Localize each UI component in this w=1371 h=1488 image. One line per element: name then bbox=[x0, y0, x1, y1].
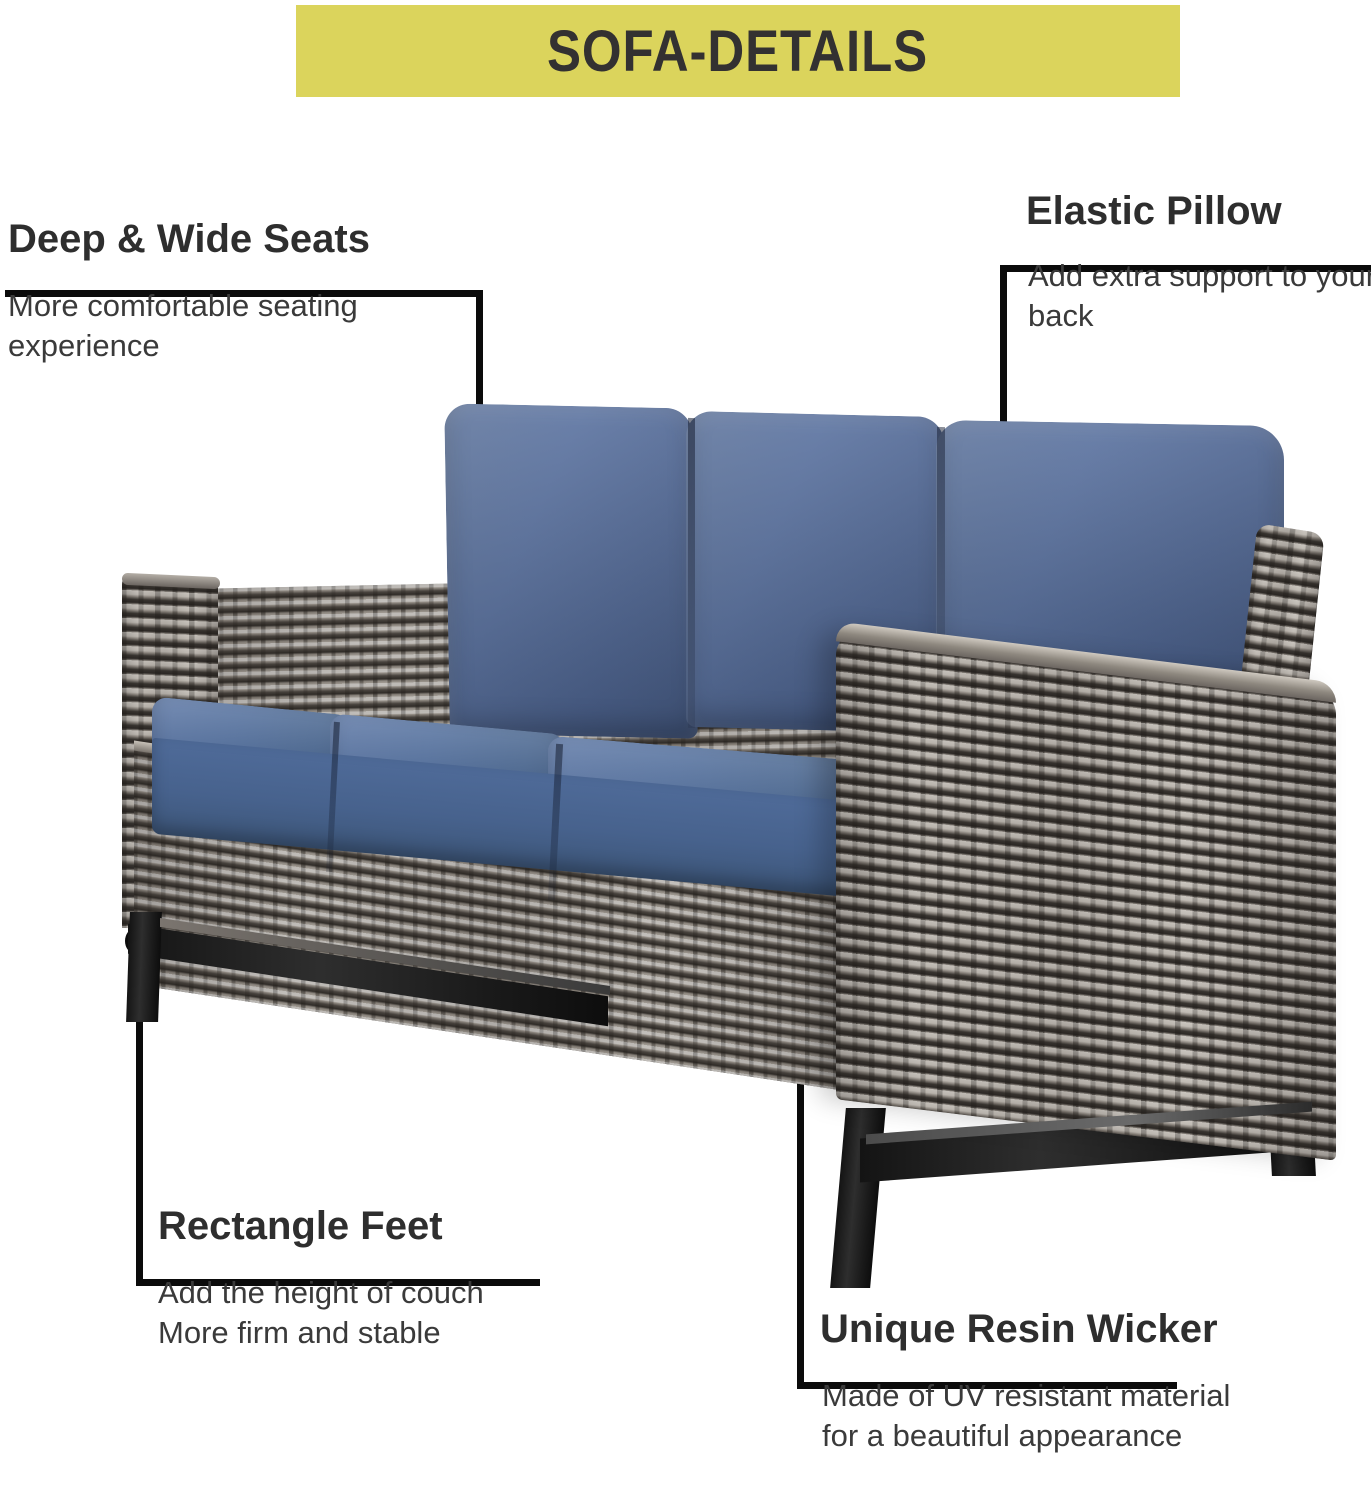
callout-body-rectangle-feet: Add the height of couch More firm and st… bbox=[158, 1273, 628, 1352]
callout-body-unique-resin-wicker: Made of UV resistant material for a beau… bbox=[822, 1376, 1371, 1455]
callout-title-elastic-pillow: Elastic Pillow bbox=[1026, 190, 1371, 232]
left-leg-vertical bbox=[126, 912, 162, 1022]
callout-unique-resin-wicker: Unique Resin Wicker Made of UV resistant… bbox=[800, 1308, 1371, 1455]
callout-body-elastic-pillow: Add extra support to your back bbox=[1028, 256, 1371, 335]
callout-body-line-1: Made of UV resistant material bbox=[822, 1376, 1371, 1416]
callout-body-line-1: Add the height of couch bbox=[158, 1273, 628, 1313]
sofa-right-arm bbox=[836, 629, 1336, 1160]
back-cushion-left bbox=[444, 403, 698, 738]
callout-elastic-pillow: Elastic Pillow Add extra support to your… bbox=[1010, 190, 1371, 335]
callout-body-line-2: for a beautiful appearance bbox=[822, 1416, 1371, 1456]
callout-body-deep-wide-seats: More comfortable seating experience bbox=[8, 286, 478, 365]
callout-title-deep-wide-seats: Deep & Wide Seats bbox=[8, 218, 478, 260]
callout-rectangle-feet: Rectangle Feet Add the height of couch M… bbox=[140, 1205, 628, 1352]
callout-title-rectangle-feet: Rectangle Feet bbox=[158, 1205, 628, 1247]
cushion-seam-1 bbox=[688, 418, 695, 728]
callout-title-unique-resin-wicker: Unique Resin Wicker bbox=[820, 1308, 1371, 1350]
callout-deep-wide-seats: Deep & Wide Seats More comfortable seati… bbox=[5, 218, 478, 365]
callout-body-line-2: More firm and stable bbox=[158, 1313, 628, 1353]
